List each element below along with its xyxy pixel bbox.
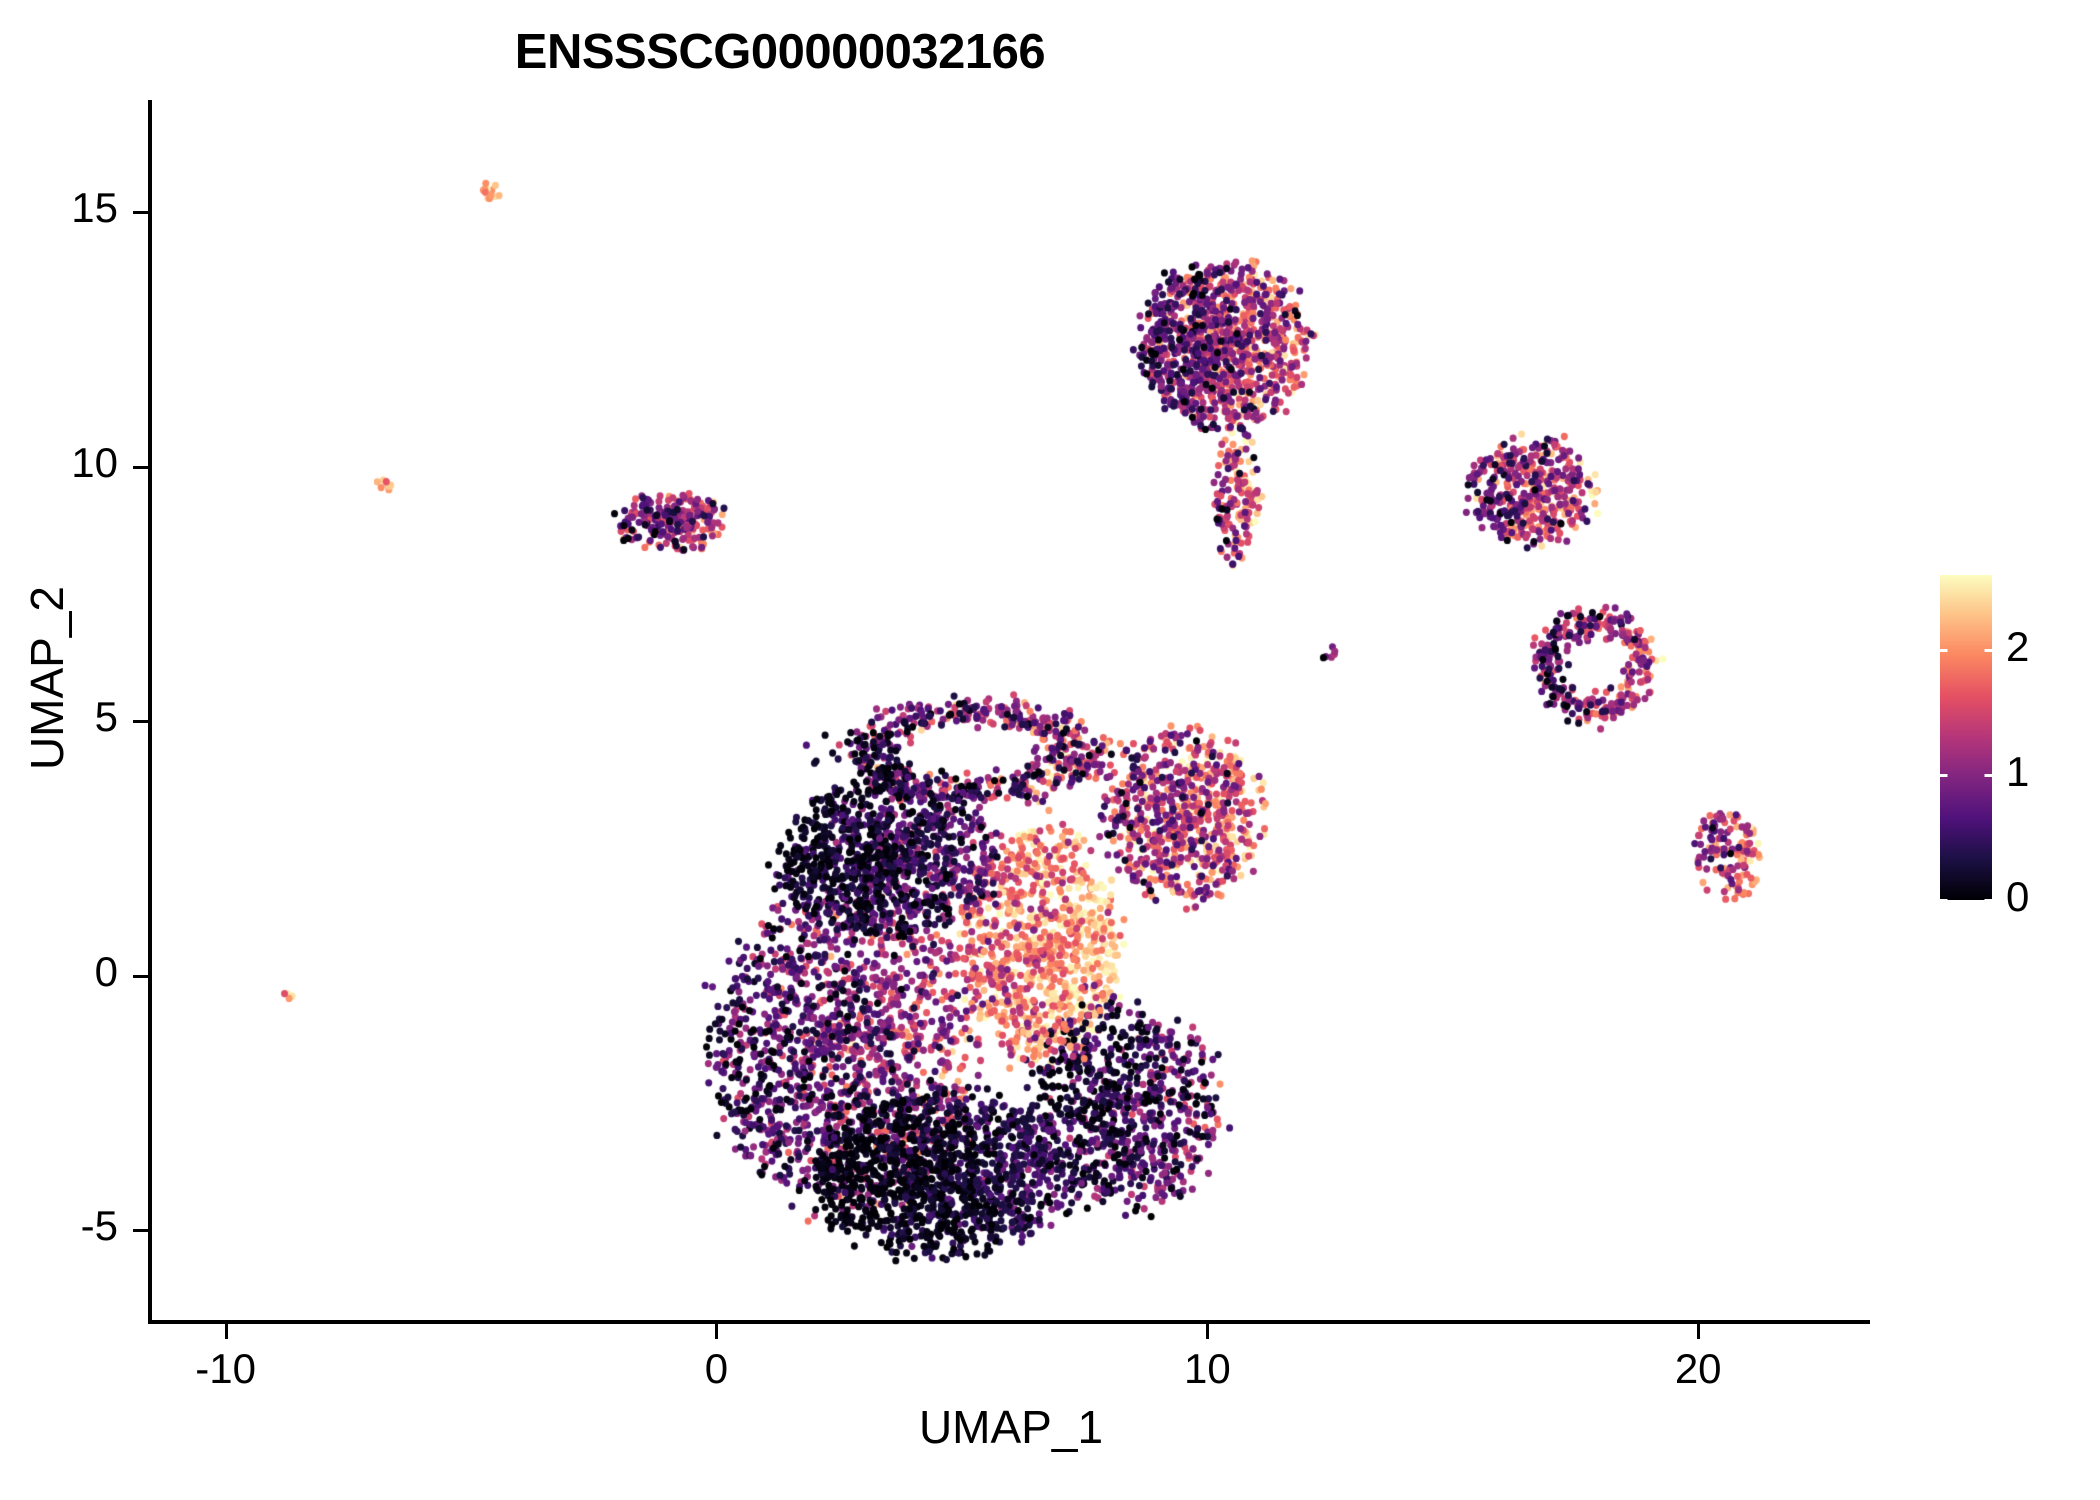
scatter-points-canvas [152, 100, 1870, 1322]
x-tick-mark [715, 1324, 718, 1339]
x-tick-mark [1697, 1324, 1700, 1339]
color-legend-gradient [1940, 575, 1992, 900]
color-legend-tick-label: 0 [2006, 873, 2029, 921]
x-axis-title: UMAP_1 [152, 1400, 1870, 1454]
feature-plot-figure: ENSSSCG00000032166 -1001020 -5051015 UMA… [0, 0, 2100, 1500]
x-tick-mark [225, 1324, 228, 1339]
color-legend-tick-mark [1940, 774, 1992, 777]
color-legend-tick-mark [1940, 649, 1992, 652]
x-tick-label: 0 [616, 1345, 816, 1393]
x-tick-label: -10 [126, 1345, 326, 1393]
y-tick-mark [133, 720, 148, 723]
y-tick-mark [133, 975, 148, 978]
color-legend: 012 [1940, 575, 2080, 905]
color-legend-tick-label: 1 [2006, 748, 2029, 796]
y-axis-title: UMAP_2 [20, 318, 74, 1038]
y-tick-label: 15 [0, 184, 118, 232]
y-axis-line [148, 100, 152, 1324]
x-axis-line [152, 1320, 1870, 1324]
x-tick-label: 10 [1107, 1345, 1307, 1393]
y-tick-label: -5 [0, 1202, 118, 1250]
page-title: ENSSSCG00000032166 [0, 24, 1560, 80]
y-tick-mark [133, 211, 148, 214]
y-tick-mark [133, 466, 148, 469]
x-tick-mark [1206, 1324, 1209, 1339]
y-tick-mark [133, 1229, 148, 1232]
scatter-plot-panel [152, 100, 1870, 1322]
color-legend-tick-label: 2 [2006, 623, 2029, 671]
x-tick-label: 20 [1598, 1345, 1798, 1393]
color-legend-tick-mark [1940, 899, 1992, 902]
